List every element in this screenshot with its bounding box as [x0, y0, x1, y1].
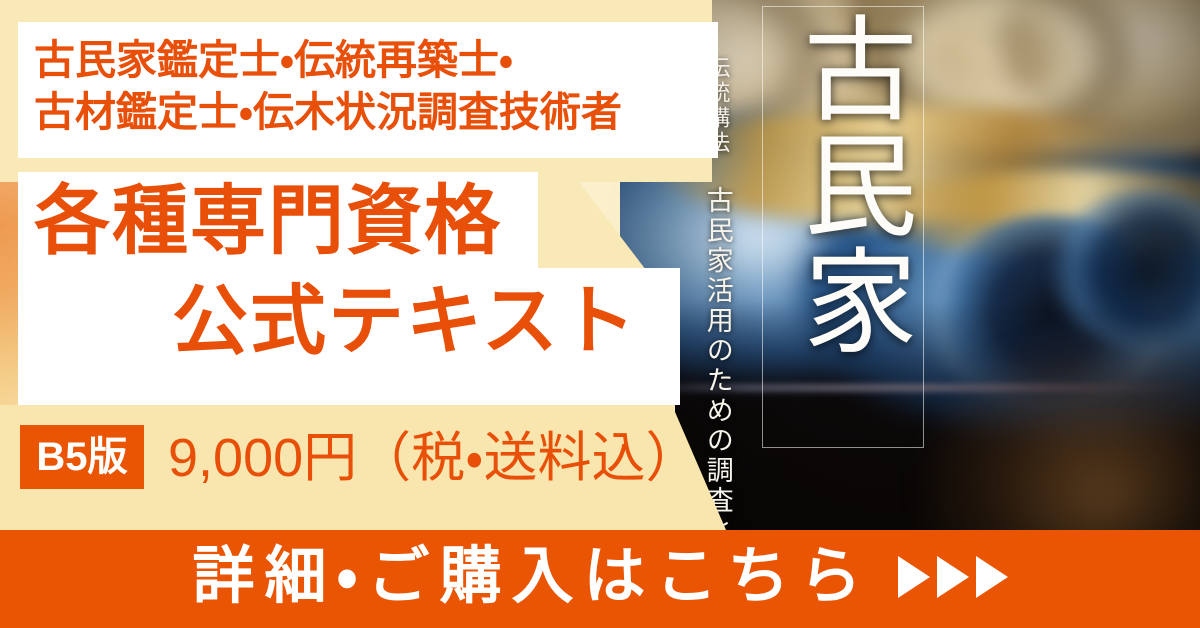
size-badge: B5版 — [20, 425, 144, 489]
qualifications-line-1: 古民家鑑定士・伝統再築士・ — [34, 34, 714, 86]
arrow-right-icon — [898, 556, 930, 598]
arrow-right-icon — [976, 556, 1008, 598]
price-text: 9,000円（税・送料込） — [168, 428, 700, 488]
promo-banner: 古民家 伝統構法 古民家活用のための調査と再生の 古民家鑑定士・伝統再築士・ 古… — [0, 0, 1200, 628]
qualifications-line-2: 古材鑑定士・伝木状況調査技術者 — [34, 86, 714, 138]
cta-content[interactable]: 詳細・ご購入はこちら — [0, 530, 1200, 628]
headline-line-1: 各種専門資格 — [34, 184, 502, 260]
arrow-right-icon — [937, 556, 969, 598]
qualifications-text: 古民家鑑定士・伝統再築士・ 古材鑑定士・伝木状況調査技術者 — [34, 34, 714, 139]
cta-label[interactable]: 詳細・ご購入はこちら — [192, 546, 871, 608]
cta-arrows[interactable] — [898, 556, 1008, 598]
qualifications-panel: 古民家鑑定士・伝統再築士・ 古材鑑定士・伝木状況調査技術者 — [18, 22, 718, 158]
headline-line-2: 公式テキスト — [172, 284, 638, 360]
cover-title: 古民家 — [768, 10, 916, 358]
